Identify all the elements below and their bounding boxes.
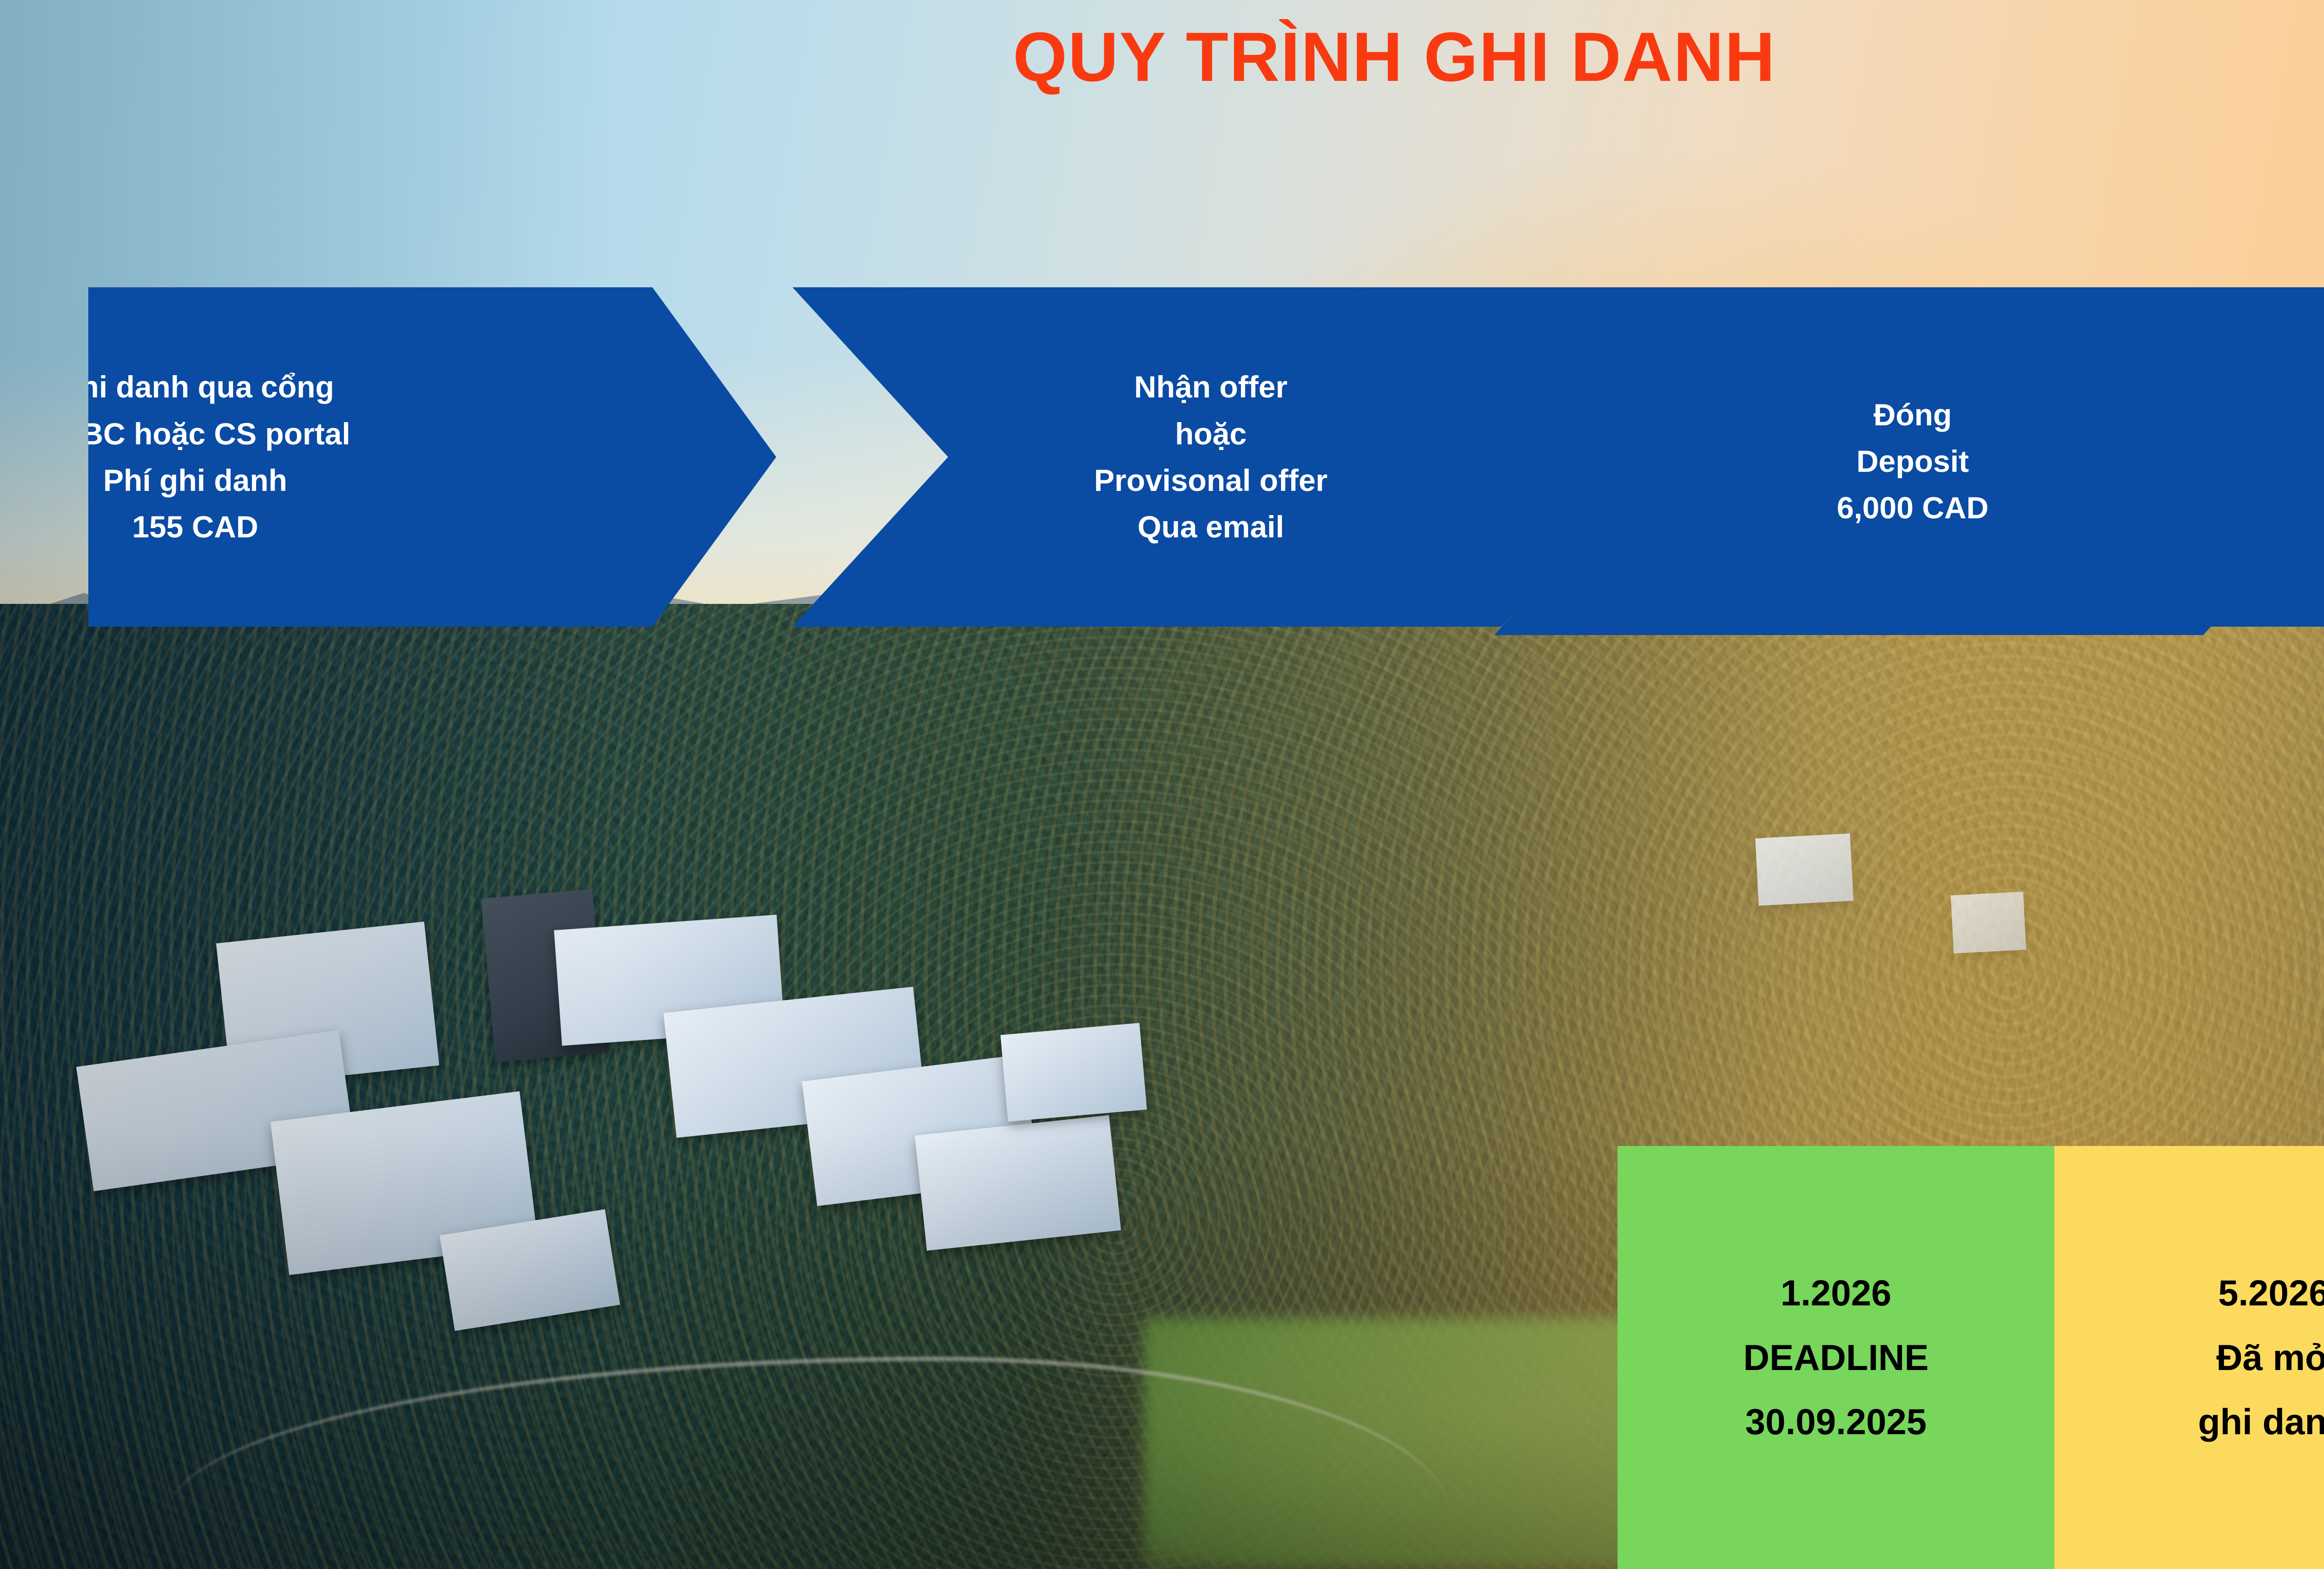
- page-title: QUY TRÌNH GHI DANH: [0, 17, 2324, 97]
- process-step-1[interactable]: Ghi danh qua cổng EPBC hoặc CS portal Ph…: [88, 287, 776, 627]
- intake-green-line-2: DEADLINE: [1743, 1325, 1929, 1390]
- intake-yellow-line-1: 5.2026: [2218, 1261, 2324, 1325]
- step-2-line-4: Qua email: [1137, 503, 1284, 550]
- step-1-line-4: 155 CAD: [132, 503, 258, 550]
- intake-box-open[interactable]: 5.2026 Đã mở ghi danh: [2054, 1146, 2324, 1569]
- step-3-line-2: Deposit: [1856, 438, 1969, 484]
- step-3-line-3: 6,000 CAD: [1837, 484, 1989, 531]
- step-2-line-1: Nhận offer: [1134, 364, 1287, 410]
- intake-box-deadline[interactable]: 1.2026 DEADLINE 30.09.2025: [1618, 1146, 2054, 1569]
- step-3-line-1: Đóng: [1874, 391, 1952, 438]
- intake-yellow-line-3: ghi danh: [2198, 1390, 2324, 1454]
- step-2-line-3: Provisonal offer: [1094, 457, 1327, 503]
- step-1-line-1: Ghi danh qua cổng: [56, 364, 334, 410]
- intake-yellow-line-2: Đã mở: [2216, 1325, 2324, 1390]
- intake-green-line-3: 30.09.2025: [1745, 1390, 1927, 1454]
- step-2-line-2: hoặc: [1175, 410, 1247, 457]
- step-1-line-3: Phí ghi danh: [103, 457, 287, 503]
- intake-green-line-1: 1.2026: [1781, 1261, 1892, 1325]
- poster-canvas: QUY TRÌNH GHI DANH Ghi danh qua cổng EPB…: [0, 0, 2324, 1569]
